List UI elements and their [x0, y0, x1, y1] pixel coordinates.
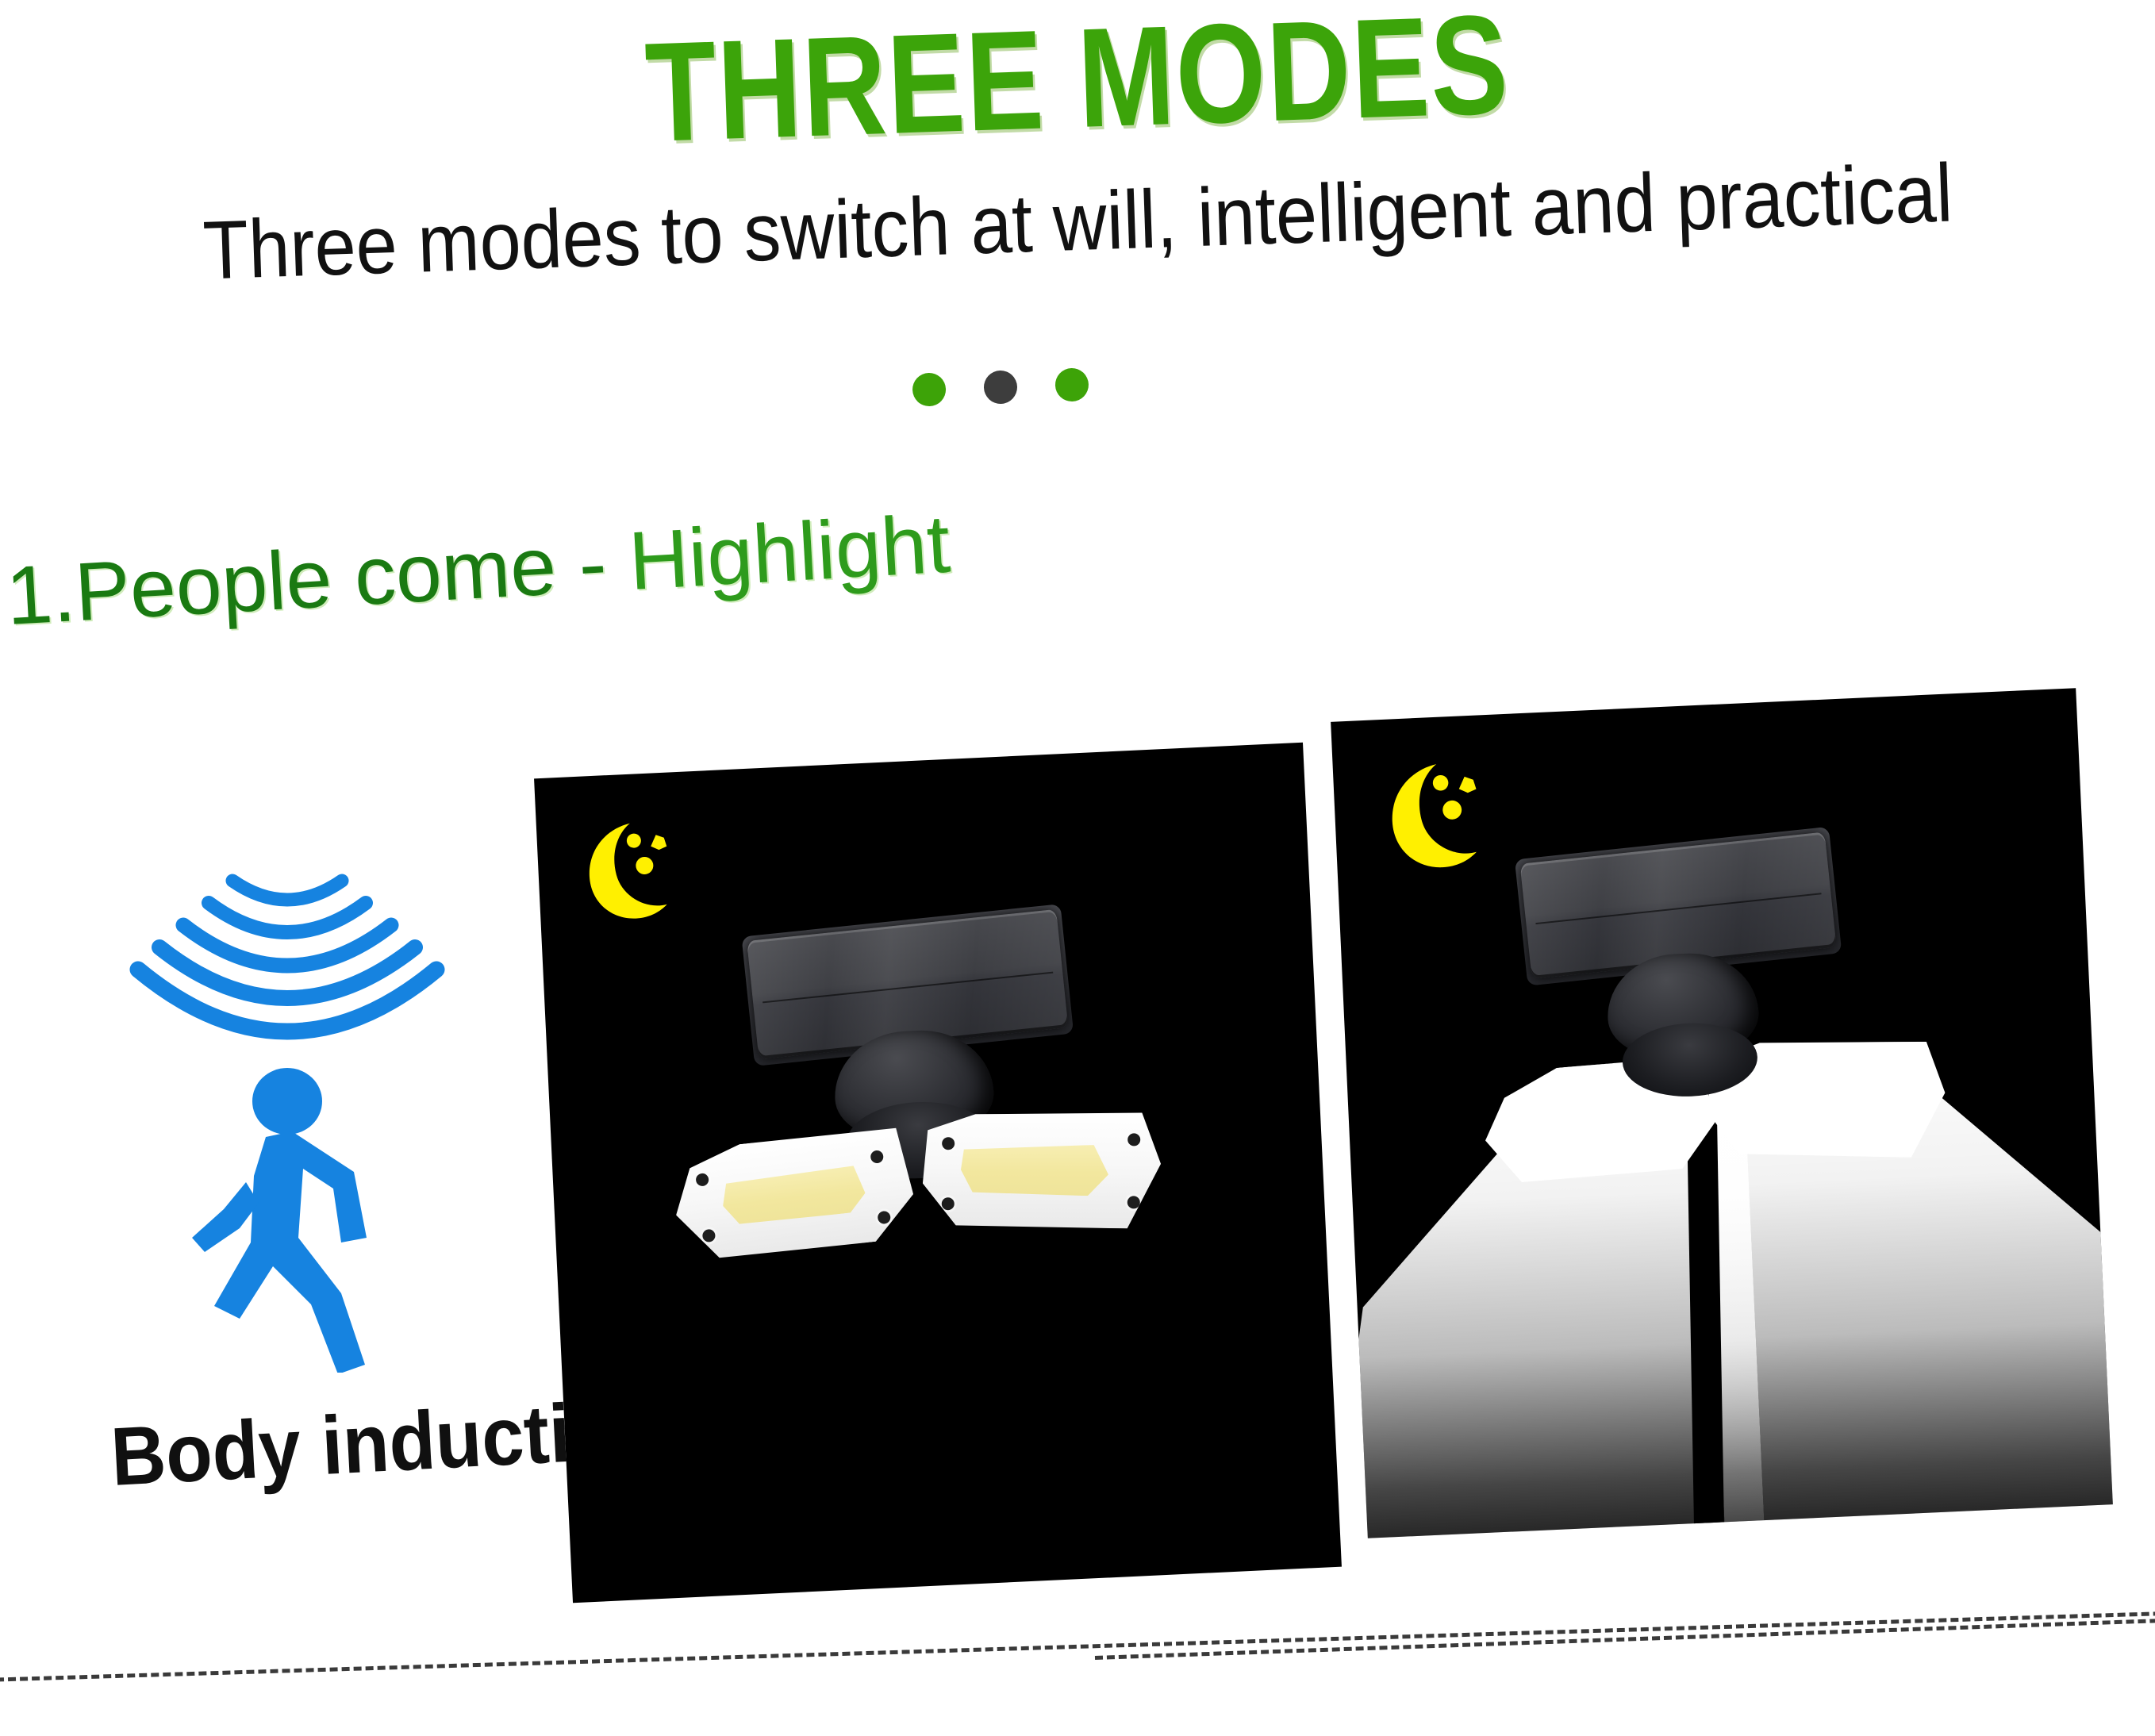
led-panel-right [923, 1112, 1162, 1229]
walking-person-glyph [192, 1068, 367, 1373]
screw-icon [1127, 1134, 1140, 1146]
footer-divider-lower [0, 1611, 2155, 1682]
screw-icon [877, 1211, 891, 1225]
screw-icon [942, 1197, 955, 1210]
screw-icon [942, 1137, 955, 1150]
led-cob-right [961, 1144, 1108, 1196]
page-title-text: THREE MODES [643, 0, 1512, 163]
body-induction-block: Body induction [103, 817, 547, 1531]
screw-icon [702, 1229, 716, 1243]
dot-1 [912, 372, 946, 406]
photo-night-dim [534, 743, 1342, 1603]
photo-night-bright [1331, 688, 2113, 1538]
section-heading: 1.People come - Highlight [4, 503, 952, 638]
led-panel-left [669, 1125, 919, 1265]
section-label-text: People come - [72, 516, 632, 639]
led-cob-left [720, 1164, 867, 1227]
solar-light-product-dim [534, 743, 1342, 1603]
motion-sensor-icon [103, 817, 547, 1373]
footer-divider-upper [1095, 1617, 2155, 1660]
section-highlight-text: Highlight [627, 498, 953, 608]
dot-3 [1054, 367, 1089, 401]
screw-icon [870, 1150, 884, 1165]
screw-icon [1127, 1196, 1140, 1209]
dot-2 [983, 370, 1017, 404]
solar-light-product-bright [1331, 688, 2113, 1538]
dot-separator [912, 367, 1089, 406]
page-subtitle-text: Three modes to switch at will, intellige… [202, 152, 1953, 292]
section-number: 1. [4, 547, 78, 643]
screw-icon [695, 1173, 709, 1187]
page-canvas: THREE MODES Three modes to switch at wil… [0, 0, 2155, 1736]
